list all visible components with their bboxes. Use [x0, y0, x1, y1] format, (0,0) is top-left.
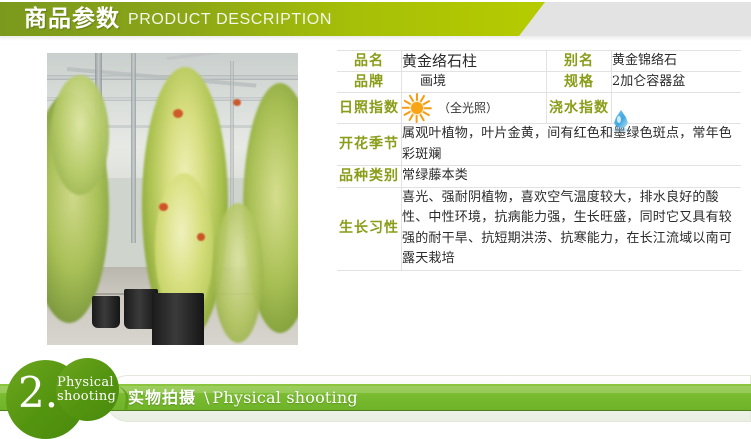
spec-value-sunlight-note: （全光照） — [438, 98, 498, 118]
spec-value-brand: 画境 — [402, 72, 547, 93]
banner-badge-en-line1: Physical — [57, 375, 114, 390]
page-title-en: PRODUCT DESCRIPTION — [128, 9, 332, 31]
product-photo — [47, 53, 298, 345]
table-row: 开花季节 属观叶植物，叶片金黄，间有红色和墨绿色斑点，常年色彩斑斓 — [337, 124, 741, 166]
spec-label-sunlight-index: 日照指数 — [337, 93, 402, 124]
photo-plant — [51, 75, 109, 195]
banner-step-number: 2. — [18, 372, 58, 414]
table-row: 生长习性 喜光、强耐阴植物，喜欢空气温度较大，排水良好的酸性、中性环境，抗病能力… — [337, 187, 741, 270]
spec-value-alias: 黄金锦络石 — [612, 51, 742, 72]
spec-value-product-name: 黄金络石柱 — [402, 51, 547, 72]
spec-label-brand: 品牌 — [337, 72, 402, 93]
table-row: 品牌 画境 规格 2加仑容器盆 — [337, 72, 741, 93]
photo-support-post — [131, 53, 136, 243]
page-title-cn: 商品参数 — [24, 4, 120, 34]
spec-label-product-name: 品名 — [337, 51, 402, 72]
banner-title-separator: \ — [196, 388, 212, 407]
spec-value-sunlight: （全光照） — [402, 93, 547, 124]
banner-title-en: Physical shooting — [212, 388, 357, 407]
photo-nursery-pot — [92, 296, 120, 328]
spec-value-growth-habit: 喜光、强耐阴植物，喜欢空气温度较大，排水良好的酸性、中性环境，抗病能力强，生长旺… — [402, 187, 742, 270]
photo-red-leaf-accent — [159, 203, 168, 211]
table-row: 日照指数 — [337, 93, 741, 124]
sun-icon — [402, 93, 432, 123]
photo-red-leaf-accent — [197, 233, 205, 241]
banner-badge-en: Physical shooting — [57, 376, 127, 404]
spec-label-growth-habit: 生长习性 — [337, 187, 402, 270]
spec-label-flowering-season: 开花季节 — [337, 124, 402, 166]
spec-value-flowering-season: 属观叶植物，叶片金黄，间有红色和墨绿色斑点，常年色彩斑斓 — [402, 124, 742, 166]
spec-label-specification: 规格 — [547, 72, 612, 93]
page-header: 商品参数 PRODUCT DESCRIPTION — [0, 0, 751, 44]
spec-label-watering-text: 浇水指数 — [549, 100, 609, 116]
spec-label-variety-type: 品种类别 — [337, 166, 402, 188]
spec-label-sunlight-text: 日照指数 — [339, 100, 399, 116]
photo-support-post — [230, 61, 234, 221]
photo-red-leaf-accent — [233, 99, 241, 106]
spec-label-alias: 别名 — [547, 51, 612, 72]
product-spec-table: 品名 黄金络石柱 别名 黄金锦络石 品牌 画境 规格 2加仑容器盆 日照指数 — [337, 50, 741, 271]
photo-red-leaf-accent — [173, 109, 183, 118]
header-shadow — [0, 36, 751, 41]
section-banner-physical-shooting: 2. Physical shooting 实物拍摄\Physical shoot… — [0, 358, 751, 439]
spec-value-watering — [612, 93, 742, 124]
spec-label-watering-index: 浇水指数 — [547, 93, 612, 124]
spec-value-variety-type: 常绿藤本类 — [402, 166, 742, 188]
spec-value-specification: 2加仑容器盆 — [612, 72, 742, 93]
banner-badge-en-line2: shooting — [57, 389, 116, 404]
banner-title-cn: 实物拍摄 — [128, 388, 196, 407]
table-row: 品种类别 常绿藤本类 — [337, 166, 741, 188]
photo-plant — [213, 203, 263, 343]
table-row: 品名 黄金络石柱 别名 黄金锦络石 — [337, 51, 741, 72]
banner-title: 实物拍摄\Physical shooting — [128, 388, 358, 408]
photo-nursery-pot — [152, 293, 204, 345]
